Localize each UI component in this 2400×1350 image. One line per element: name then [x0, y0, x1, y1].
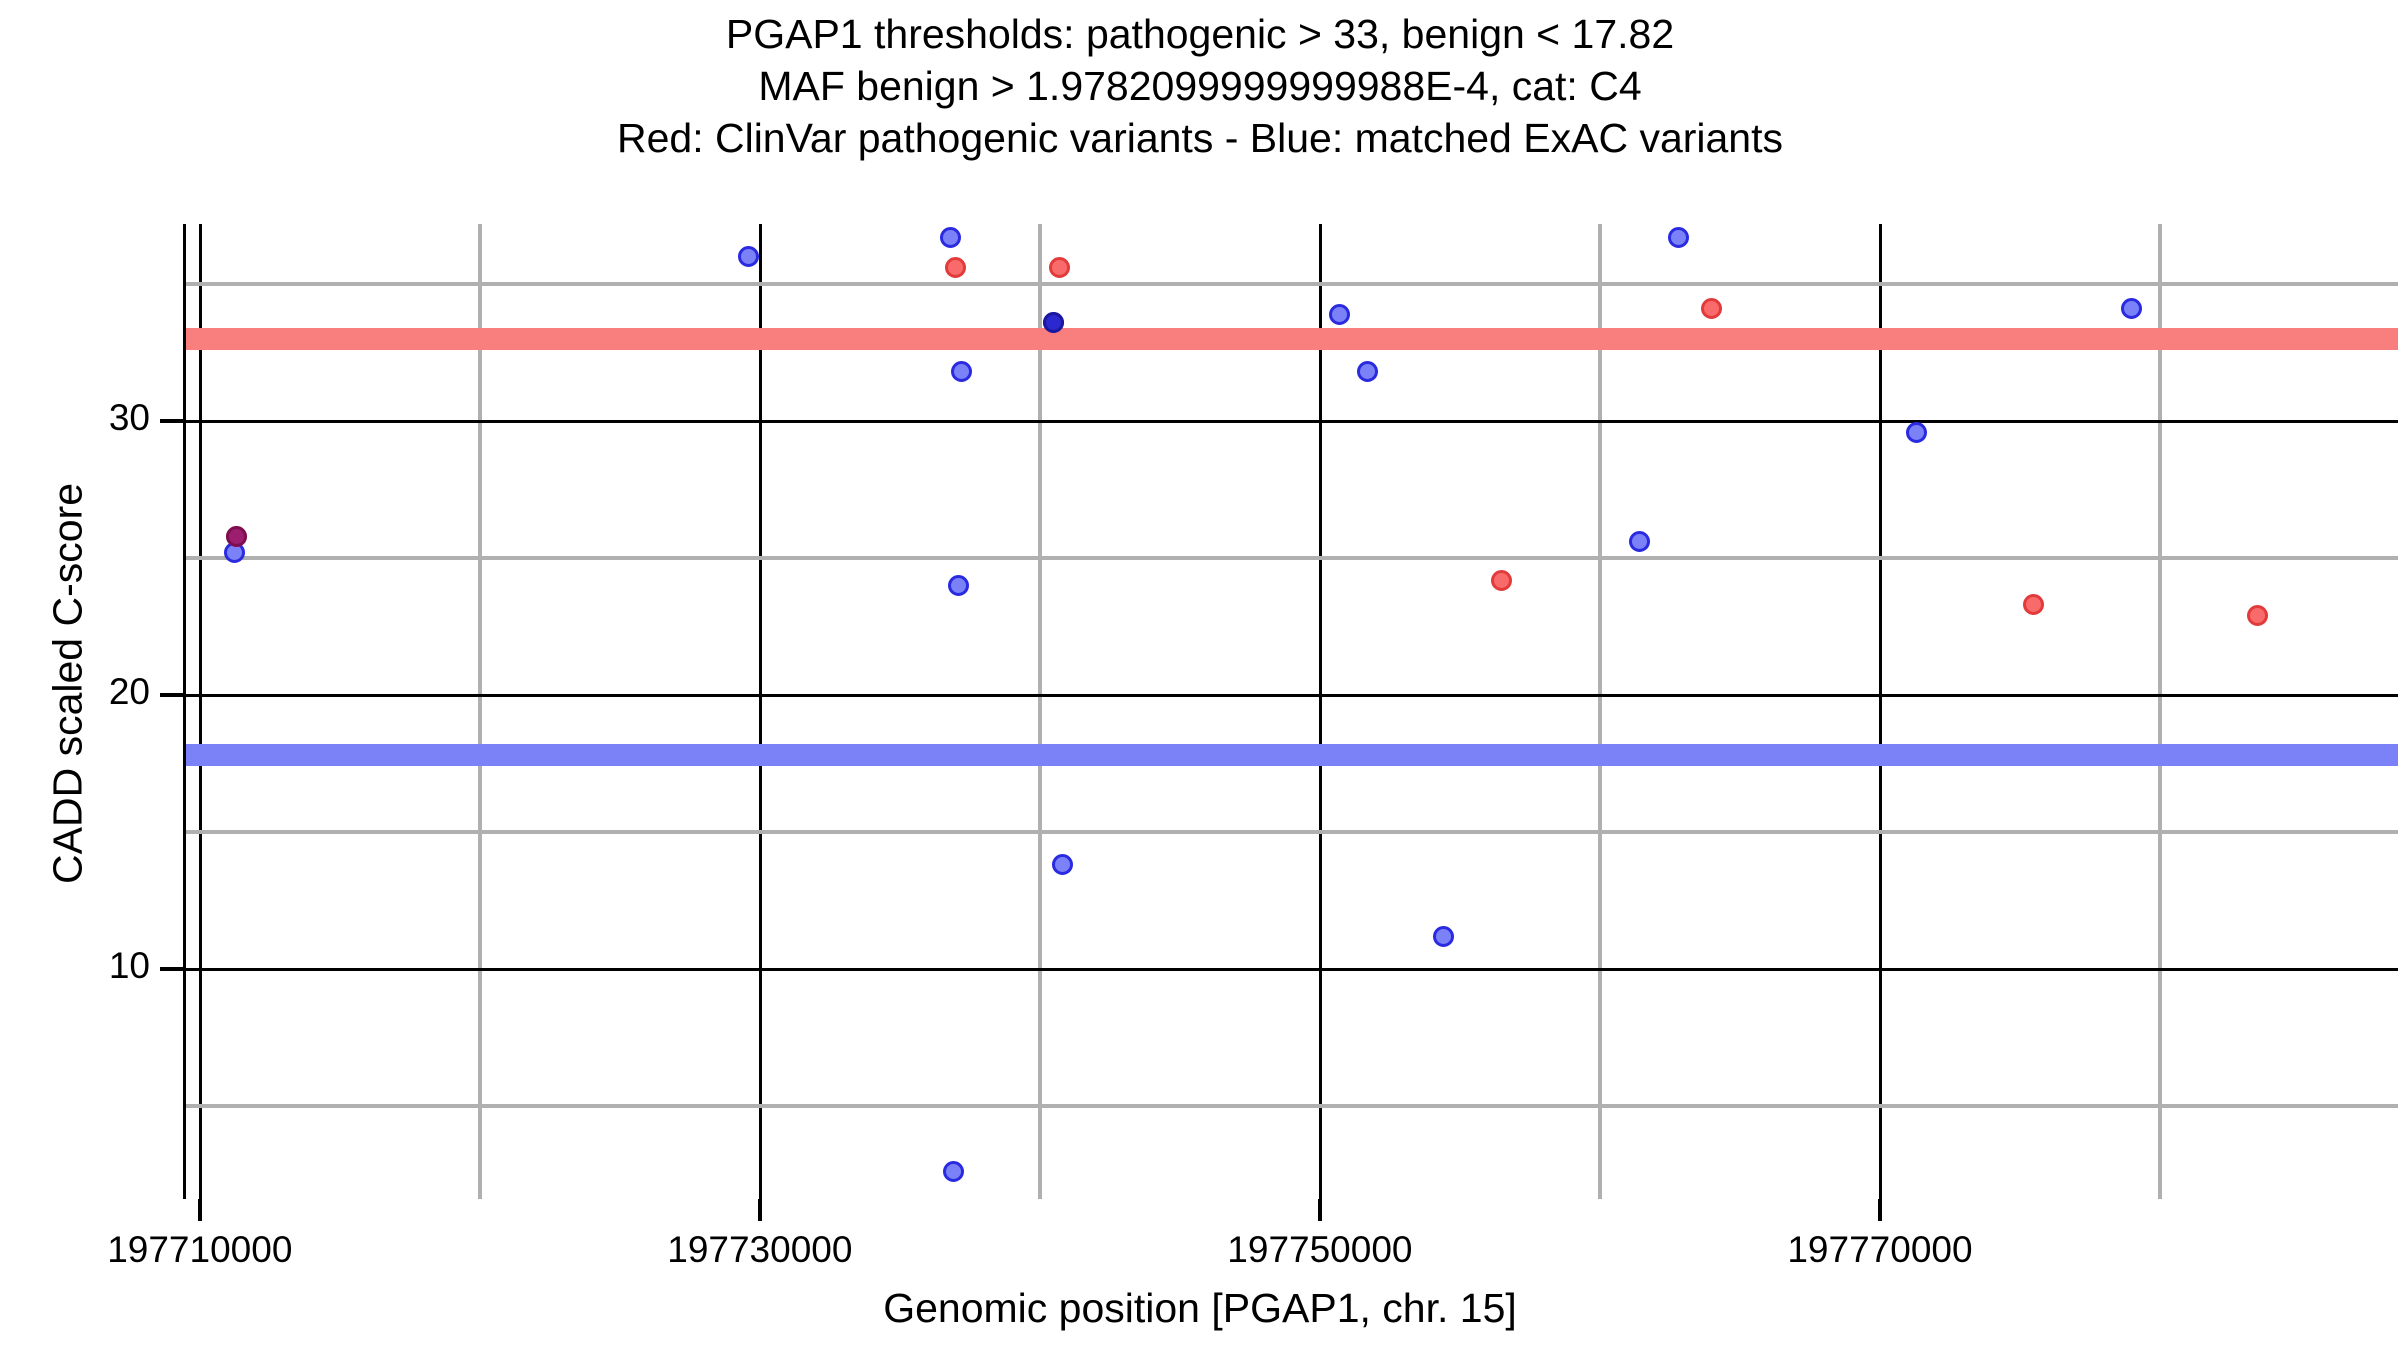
data-point-clinvar — [1049, 257, 1070, 278]
x-axis-tick — [198, 1199, 202, 1221]
data-point-exac — [738, 246, 759, 267]
data-point-clinvar — [1701, 298, 1722, 319]
y-axis-tick — [160, 967, 183, 971]
gridline-vertical-minor — [478, 224, 482, 1199]
y-axis-tick — [160, 693, 183, 697]
gridline-horizontal-minor — [183, 830, 2398, 834]
gridline-vertical-major — [199, 224, 202, 1199]
data-point-exac — [1357, 361, 1378, 382]
data-point-clinvar — [1491, 570, 1512, 591]
y-axis-tick-label: 30 — [0, 397, 150, 439]
chart-title: PGAP1 thresholds: pathogenic > 33, benig… — [0, 8, 2400, 164]
data-point-clinvar — [945, 257, 966, 278]
x-axis-title: Genomic position [PGAP1, chr. 15] — [0, 1285, 2400, 1332]
gridline-vertical-minor — [2158, 224, 2162, 1199]
chart-figure: PGAP1 thresholds: pathogenic > 33, benig… — [0, 0, 2400, 1350]
data-point-exac — [1629, 531, 1650, 552]
gridline-horizontal-major — [183, 420, 2398, 423]
data-point-exac — [1906, 422, 1927, 443]
gridline-vertical-major — [1319, 224, 1322, 1199]
x-axis-tick-label: 197750000 — [1227, 1229, 1412, 1271]
threshold-band-benign — [183, 744, 2398, 766]
data-point-clinvar — [2023, 594, 2044, 615]
y-axis-tick-label: 10 — [0, 945, 150, 987]
y-axis-line — [183, 224, 186, 1199]
y-axis-tick — [160, 419, 183, 423]
gridline-horizontal-minor — [183, 282, 2398, 286]
gridline-vertical-minor — [1598, 224, 1602, 1199]
gridline-horizontal-major — [183, 694, 2398, 697]
gridline-horizontal-major — [183, 968, 2398, 971]
x-axis-tick-label: 197710000 — [107, 1229, 292, 1271]
data-point-exac — [1433, 926, 1454, 947]
gridline-vertical-minor — [1038, 224, 1042, 1199]
threshold-band-pathogenic — [183, 328, 2398, 350]
data-point-exac — [1329, 304, 1350, 325]
gridline-vertical-major — [1879, 224, 1882, 1199]
data-point-exac — [940, 227, 961, 248]
title-line-3: Red: ClinVar pathogenic variants - Blue:… — [0, 112, 2400, 164]
data-point-exac — [1052, 854, 1073, 875]
x-axis-tick-label: 197730000 — [667, 1229, 852, 1271]
x-axis-tick-label: 197770000 — [1787, 1229, 1972, 1271]
data-point-exac — [2121, 298, 2142, 319]
title-line-1: PGAP1 thresholds: pathogenic > 33, benig… — [0, 8, 2400, 60]
gridline-horizontal-minor — [183, 1104, 2398, 1108]
plot-area — [183, 224, 2398, 1199]
y-axis-tick-label: 20 — [0, 671, 150, 713]
gridline-horizontal-minor — [183, 556, 2398, 560]
x-axis-tick — [758, 1199, 762, 1221]
data-point-exac — [943, 1161, 964, 1182]
gridline-vertical-major — [759, 224, 762, 1199]
data-point-clinvar — [2247, 605, 2268, 626]
data-point-overlap — [226, 526, 247, 547]
x-axis-tick — [1318, 1199, 1322, 1221]
title-line-2: MAF benign > 1.9782099999999988E-4, cat:… — [0, 60, 2400, 112]
x-axis-tick — [1878, 1199, 1882, 1221]
data-point-exac — [951, 361, 972, 382]
data-point-exac — [948, 575, 969, 596]
data-point-exac — [1668, 227, 1689, 248]
